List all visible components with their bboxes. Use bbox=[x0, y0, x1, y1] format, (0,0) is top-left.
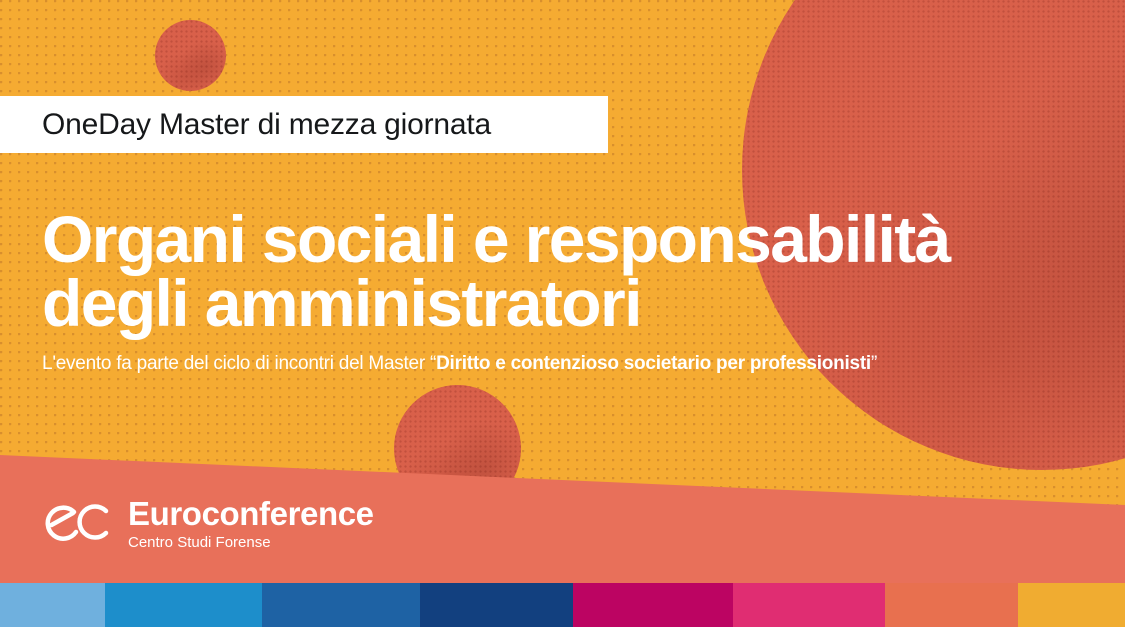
subtitle-lead: L'evento fa parte del ciclo di incontri … bbox=[42, 353, 436, 374]
color-swatch-navy bbox=[420, 583, 573, 627]
subtitle-emphasis: Diritto e contenzioso societario per pro… bbox=[436, 353, 871, 374]
page-title: Organi sociali e responsabilità degli am… bbox=[42, 207, 1102, 335]
color-swatch-medium-blue bbox=[262, 583, 420, 627]
color-swatch-light-blue bbox=[0, 583, 105, 627]
headline-line-2: degli amministratori bbox=[42, 271, 1102, 335]
event-banner: OneDay Master di mezza giornata Organi s… bbox=[0, 0, 1125, 627]
decorative-circle-small-top bbox=[155, 20, 226, 91]
kicker-box: OneDay Master di mezza giornata bbox=[0, 96, 608, 153]
headline-line-1: Organi sociali e responsabilità bbox=[42, 207, 1102, 271]
logo-tagline: Centro Studi Forense bbox=[128, 534, 374, 551]
logo-wordmark: Euroconference Centro Studi Forense bbox=[128, 497, 374, 551]
subtitle-trail: ” bbox=[871, 353, 877, 374]
circle-grain-texture bbox=[155, 20, 226, 91]
logo-name: Euroconference bbox=[128, 497, 374, 530]
color-swatch-blue bbox=[105, 583, 262, 627]
brand-color-strip bbox=[0, 583, 1125, 627]
euroconference-logo: Euroconference Centro Studi Forense bbox=[43, 497, 374, 551]
color-swatch-amber bbox=[1018, 583, 1125, 627]
subtitle: L'evento fa parte del ciclo di incontri … bbox=[42, 353, 877, 375]
color-swatch-coral bbox=[885, 583, 1018, 627]
color-swatch-magenta bbox=[573, 583, 733, 627]
kicker-label: OneDay Master di mezza giornata bbox=[42, 108, 491, 142]
ec-monogram-icon bbox=[43, 497, 117, 545]
color-swatch-pink bbox=[733, 583, 885, 627]
